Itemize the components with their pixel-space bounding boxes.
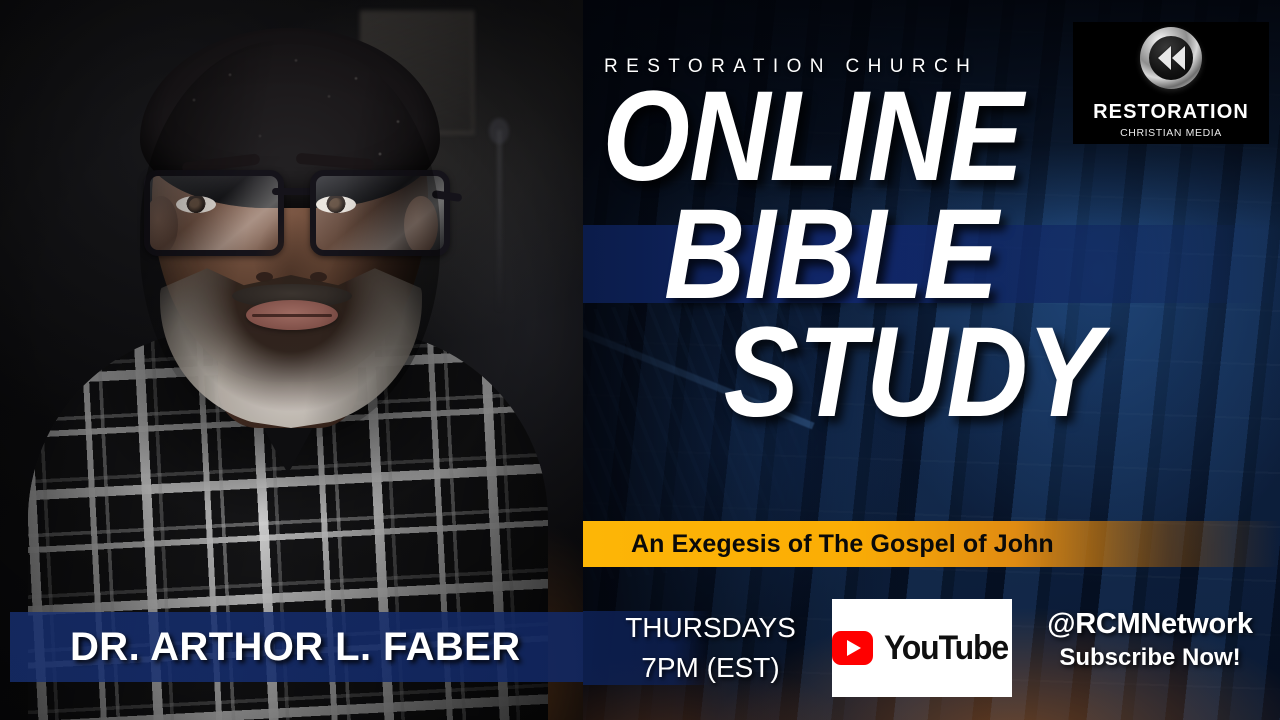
youtube-logo[interactable]: YouTube (832, 599, 1012, 697)
rewind-triangle-1 (1158, 46, 1171, 70)
play-triangle (847, 640, 861, 656)
content-panel: RESTORATION CHURCH ONLINE BIBLE STUDY RE… (583, 0, 1280, 720)
schedule-time: 7PM (EST) (603, 648, 818, 688)
logo-name: RESTORATION (1093, 101, 1249, 124)
headline-line-2: BIBLE (664, 196, 1196, 314)
schedule-day: THURSDAYS (603, 608, 818, 648)
lip-line (252, 314, 332, 317)
logo-subtitle: CHRISTIAN MEDIA (1120, 127, 1222, 139)
subscribe-cta: Subscribe Now! (1035, 642, 1265, 674)
rewind-icon (1158, 46, 1185, 70)
speaker-name-band: DR. ARTHOR L. FABER (10, 612, 583, 682)
restoration-christian-media-logo[interactable]: RESTORATION CHRISTIAN MEDIA (1073, 22, 1269, 144)
rewind-triangle-2 (1172, 46, 1185, 70)
glasses-temple (432, 190, 463, 202)
chrome-circle-badge-icon (1140, 27, 1202, 89)
lens-right (310, 170, 450, 256)
youtube-wordmark: YouTube (884, 629, 1008, 668)
headline-line-3: STUDY (724, 314, 1197, 432)
series-subtitle: An Exegesis of The Gospel of John (631, 530, 1054, 559)
promo-poster: RESTORATION CHURCH ONLINE BIBLE STUDY RE… (0, 0, 1280, 720)
speaker-name: DR. ARTHOR L. FABER (70, 625, 521, 670)
channel-handle: @RCMNetwork (1035, 606, 1265, 642)
youtube-play-icon (832, 631, 873, 665)
glasses-bridge (272, 188, 314, 195)
channel-handle-block[interactable]: @RCMNetwork Subscribe Now! (1035, 606, 1265, 674)
schedule-block: THURSDAYS 7PM (EST) (603, 608, 818, 688)
subtitle-bar: An Exegesis of The Gospel of John (583, 521, 1280, 567)
